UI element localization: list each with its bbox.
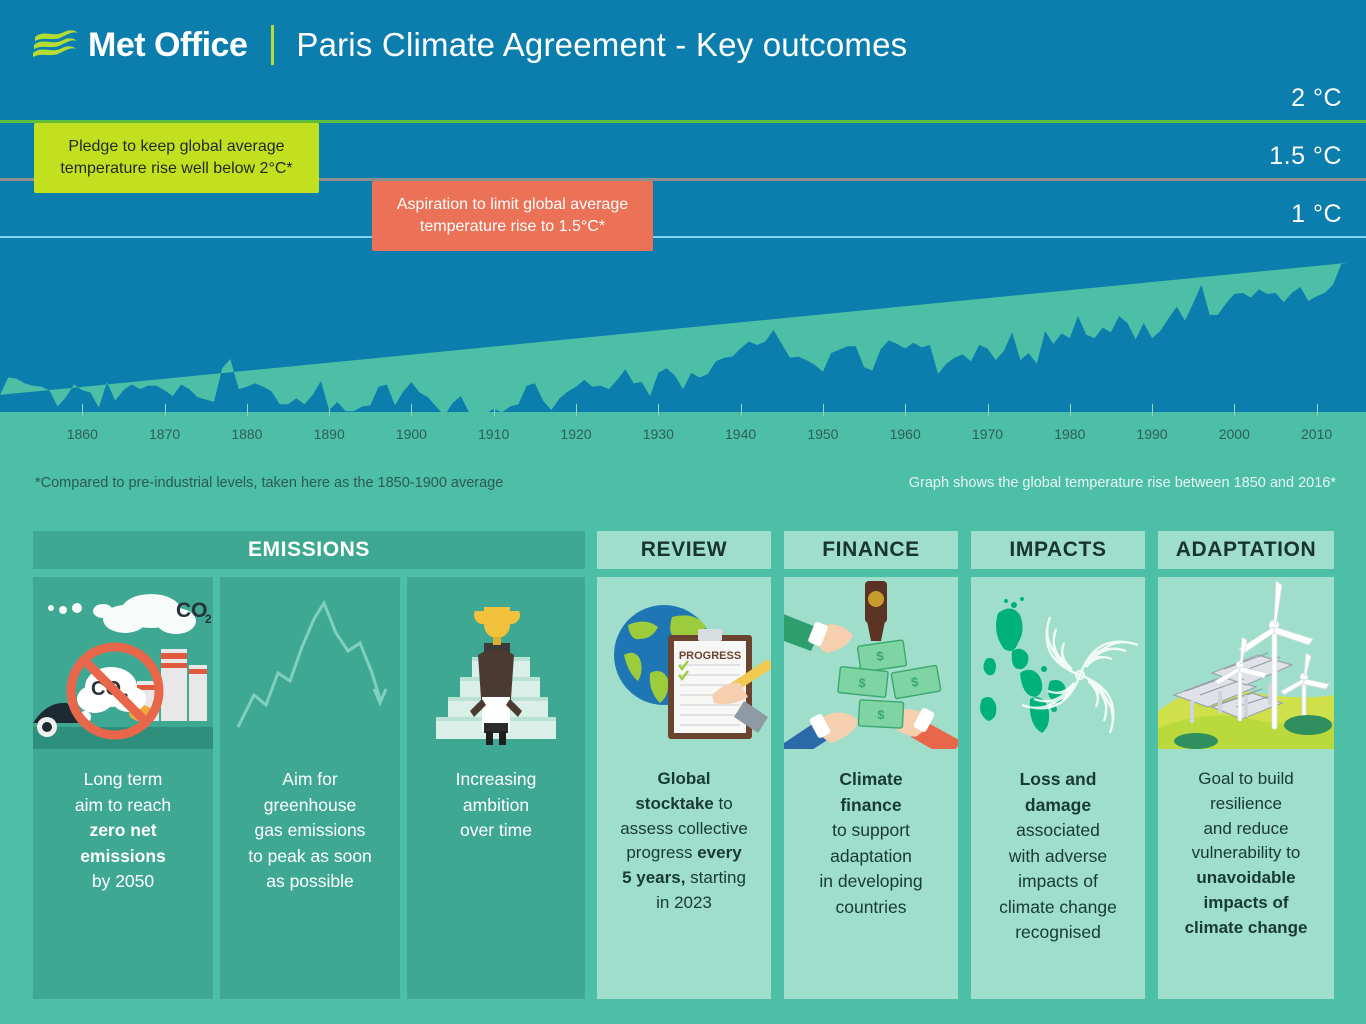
card-text-emissions-3: Increasingambitionover time (407, 767, 585, 844)
axis-tick-label-1960: 1960 (890, 426, 921, 442)
header-divider (271, 25, 274, 65)
axis-tick-label-1990: 1990 (1136, 426, 1167, 442)
svg-text:CO: CO (176, 599, 208, 622)
axis-tick-label-1880: 1880 (231, 426, 262, 442)
section-heading-review: REVIEW (597, 531, 771, 569)
axis-tick-label-1980: 1980 (1054, 426, 1085, 442)
card-emissions-1: CO 2 CO 2 Long termaim to reachzero nete… (33, 577, 213, 999)
card-impacts-1: Loss anddamageassociatedwith adverseimpa… (971, 577, 1145, 999)
axis-tick-label-1950: 1950 (807, 426, 838, 442)
section-heading-finance: FINANCE (784, 531, 958, 569)
section-heading-adaptation: ADAPTATION (1158, 531, 1334, 569)
card-text-emissions-1: Long termaim to reachzero netemissionsby… (33, 767, 213, 895)
callout-pledge: Pledge to keep global average temperatur… (34, 123, 319, 193)
person-stairs-trophy-icon (407, 577, 585, 749)
card-emissions-3: Increasingambitionover time (407, 577, 585, 999)
svg-text:2: 2 (205, 612, 212, 626)
axis-tick-label-1900: 1900 (396, 426, 427, 442)
met-office-logo: Met Office (32, 28, 247, 62)
axis-tick-label-1920: 1920 (560, 426, 591, 442)
section-heading-emissions: EMISSIONS (33, 531, 585, 569)
card-text-finance-1: Climatefinanceto supportadaptationin dev… (784, 767, 958, 920)
card-text-emissions-2: Aim forgreenhousegas emissionsto peak as… (220, 767, 400, 895)
hands-exchanging-money-icon: $ $ $ $ (784, 577, 958, 749)
axis-tick-label-2000: 2000 (1219, 426, 1250, 442)
axis-tick-label-1860: 1860 (67, 426, 98, 442)
card-text-impacts-1: Loss anddamageassociatedwith adverseimpa… (971, 767, 1145, 946)
co2-factory-car-prohibited-icon: CO 2 CO 2 (33, 577, 213, 749)
axis-tick-label-1870: 1870 (149, 426, 180, 442)
met-office-waves-logo-icon (32, 28, 80, 62)
card-text-review-1: Globalstocktake toassess collectiveprogr… (597, 767, 771, 916)
solar-panels-wind-turbines-icon (1158, 577, 1334, 749)
axis-tick-label-1940: 1940 (725, 426, 756, 442)
card-review-1: PROGRESS Globalstocktake toassess collec… (597, 577, 771, 999)
temperature-chart-area: 2 °C 1.5 °C 1 °C Met Office Paris Climat… (0, 0, 1366, 412)
axis-tick-label-1930: 1930 (643, 426, 674, 442)
infographic-page: 2 °C 1.5 °C 1 °C Met Office Paris Climat… (0, 0, 1366, 1024)
card-text-adaptation-1: Goal to buildresilienceand reducevulnera… (1158, 767, 1334, 941)
svg-text:PROGRESS: PROGRESS (679, 650, 741, 662)
page-title: Paris Climate Agreement - Key outcomes (296, 26, 907, 64)
met-office-wordmark: Met Office (88, 28, 247, 62)
chart-axis-strip: 1860187018801890190019101920193019401950… (0, 412, 1366, 512)
card-finance-1: $ $ $ $ Climatefinanceto supportadaptati… (784, 577, 958, 999)
outcome-sections: EMISSIONS CO 2 (0, 512, 1366, 1024)
page-header: Met Office Paris Climate Agreement - Key… (0, 0, 1366, 90)
axis-tick-label-2010: 2010 (1301, 426, 1332, 442)
callout-aspiration: Aspiration to limit global average tempe… (372, 181, 653, 251)
footnote-graph-range: Graph shows the global temperature rise … (909, 475, 1336, 491)
cyclone-over-islands-icon (971, 577, 1145, 749)
globe-progress-clipboard-icon: PROGRESS (597, 577, 771, 749)
axis-tick-label-1970: 1970 (972, 426, 1003, 442)
footnote-preindustrial: *Compared to pre-industrial levels, take… (35, 475, 503, 491)
declining-emissions-curve-icon (220, 577, 400, 749)
section-heading-impacts: IMPACTS (971, 531, 1145, 569)
temp-label-1-5c: 1.5 °C (1269, 142, 1342, 171)
gridline-1c (0, 236, 1366, 238)
axis-tick-label-1890: 1890 (314, 426, 345, 442)
card-adaptation-1: Goal to buildresilienceand reducevulnera… (1158, 577, 1334, 999)
card-emissions-2: Aim forgreenhousegas emissionsto peak as… (220, 577, 400, 999)
axis-tick-label-1910: 1910 (478, 426, 509, 442)
temp-label-1c: 1 °C (1291, 200, 1342, 229)
